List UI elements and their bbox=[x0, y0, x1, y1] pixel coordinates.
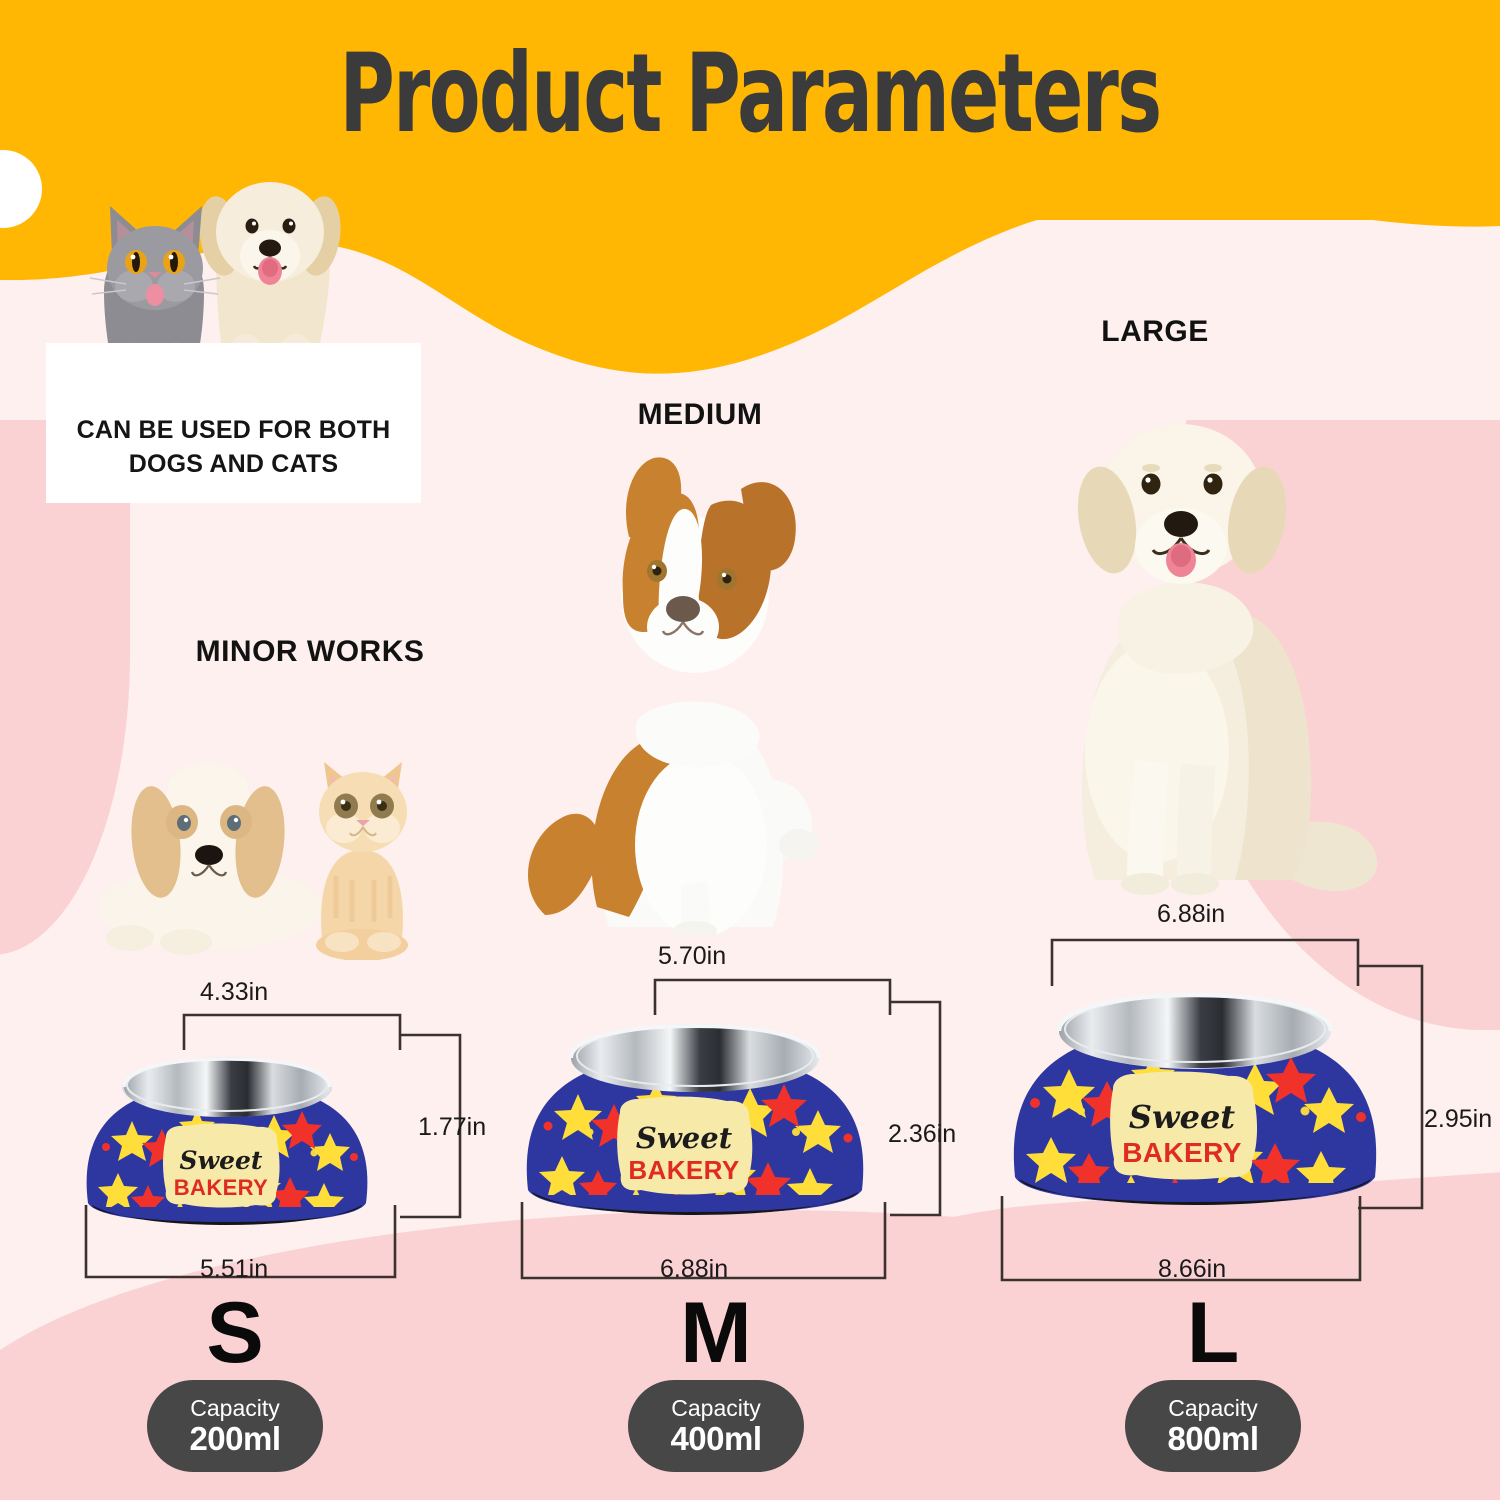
golden-retriever-icon bbox=[1070, 424, 1377, 895]
capacity-value-small: 200ml bbox=[189, 1421, 280, 1457]
bowl-label-block-large: BAKERY bbox=[1122, 1137, 1242, 1168]
size-letter-large: L bbox=[1113, 1290, 1313, 1376]
pet-photo-small bbox=[90, 690, 470, 965]
size-letter-small: S bbox=[135, 1290, 335, 1376]
capacity-badge-large[interactable]: Capacity 800ml bbox=[1125, 1380, 1301, 1472]
border-collie-icon bbox=[528, 457, 819, 935]
product-bowl-medium: Sweet BAKERY bbox=[500, 990, 890, 1215]
size-heading-small: MINOR WORKS bbox=[110, 635, 510, 669]
product-bowl-large: Sweet BAKERY bbox=[985, 955, 1405, 1205]
dim-top-width-large: 6.88in bbox=[1157, 900, 1225, 929]
product-bowl-small: Sweet BAKERY bbox=[62, 1025, 392, 1225]
capacity-value-large: 800ml bbox=[1167, 1421, 1258, 1457]
capacity-label-large: Capacity bbox=[1168, 1395, 1257, 1421]
dim-top-width-medium: 5.70in bbox=[658, 942, 726, 971]
dim-base-width-small: 5.51in bbox=[200, 1255, 268, 1284]
usage-callout-line-2: DOGS AND CATS bbox=[129, 447, 339, 481]
size-heading-large: LARGE bbox=[980, 315, 1330, 349]
bowl-label-block-medium: BAKERY bbox=[628, 1155, 739, 1185]
dim-base-width-large: 8.66in bbox=[1158, 1255, 1226, 1284]
capacity-badge-small[interactable]: Capacity 200ml bbox=[147, 1380, 323, 1472]
dim-height-small: 1.77in bbox=[418, 1113, 486, 1142]
bowl-label-script-large: Sweet bbox=[1129, 1098, 1235, 1136]
header-corner-notch bbox=[0, 150, 42, 228]
size-heading-medium: MEDIUM bbox=[520, 398, 880, 432]
cocker-spaniel-icon bbox=[98, 764, 322, 955]
dim-height-medium: 2.36in bbox=[888, 1120, 956, 1149]
capacity-label-small: Capacity bbox=[190, 1395, 279, 1421]
capacity-badge-medium[interactable]: Capacity 400ml bbox=[628, 1380, 804, 1472]
usage-callout-box: CAN BE USED FOR BOTH DOGS AND CATS bbox=[46, 343, 421, 503]
dim-base-width-medium: 6.88in bbox=[660, 1255, 728, 1284]
pet-photo-medium bbox=[505, 445, 875, 940]
bowl-label-script-small: Sweet bbox=[180, 1146, 263, 1175]
dim-height-large: 2.95in bbox=[1424, 1105, 1492, 1134]
pet-photo-large bbox=[985, 360, 1405, 925]
size-letter-medium: M bbox=[616, 1290, 816, 1376]
dim-top-width-small: 4.33in bbox=[200, 978, 268, 1007]
capacity-value-medium: 400ml bbox=[670, 1421, 761, 1457]
usage-callout-line-1: CAN BE USED FOR BOTH bbox=[77, 413, 391, 447]
ginger-kitten-icon bbox=[316, 762, 408, 960]
bowl-label-script-medium: Sweet bbox=[636, 1121, 733, 1155]
infographic-canvas: Product Parameters bbox=[0, 0, 1500, 1500]
capacity-label-medium: Capacity bbox=[671, 1395, 760, 1421]
bowl-label-block-small: BAKERY bbox=[174, 1175, 268, 1200]
